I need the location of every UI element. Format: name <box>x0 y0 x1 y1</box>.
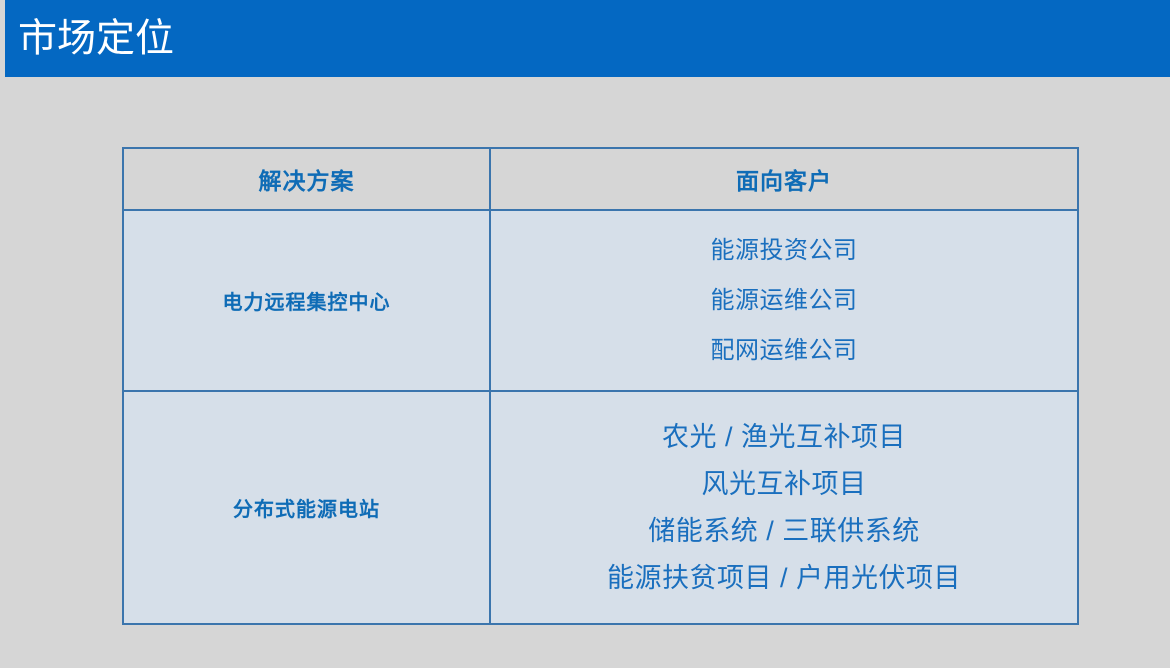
customer-list-remote-control-center: 能源投资公司 能源运维公司 配网运维公司 <box>490 210 1078 391</box>
customer-lines: 能源投资公司 能源运维公司 配网运维公司 <box>491 226 1077 376</box>
table-header-row: 解决方案 面向客户 <box>123 148 1078 210</box>
slide-canvas: 市场定位 解决方案 面向客户 电力远程集控中心 能源投资公司 <box>0 0 1170 668</box>
list-item: 农光 / 渔光互补项目 <box>662 414 906 461</box>
table-row: 分布式能源电站 农光 / 渔光互补项目 风光互补项目 储能系统 / 三联供系统 … <box>123 391 1078 624</box>
market-positioning-table-container: 解决方案 面向客户 电力远程集控中心 能源投资公司 能源运维公司 配网运维公司 <box>122 147 1077 621</box>
list-item: 能源扶贫项目 / 户用光伏项目 <box>607 555 961 602</box>
list-item: 能源投资公司 <box>711 226 858 276</box>
table-row: 电力远程集控中心 能源投资公司 能源运维公司 配网运维公司 <box>123 210 1078 391</box>
market-positioning-table: 解决方案 面向客户 电力远程集控中心 能源投资公司 能源运维公司 配网运维公司 <box>122 147 1079 625</box>
list-item: 风光互补项目 <box>702 461 867 508</box>
page-title: 市场定位 <box>18 19 174 58</box>
column-header-solution: 解决方案 <box>123 148 490 210</box>
list-item: 储能系统 / 三联供系统 <box>648 508 920 555</box>
list-item: 能源运维公司 <box>711 276 858 326</box>
slide-title-banner: 市场定位 <box>5 0 1170 77</box>
customer-lines: 农光 / 渔光互补项目 风光互补项目 储能系统 / 三联供系统 能源扶贫项目 /… <box>491 414 1077 602</box>
customer-list-distributed-energy-station: 农光 / 渔光互补项目 风光互补项目 储能系统 / 三联供系统 能源扶贫项目 /… <box>490 391 1078 624</box>
solution-name-remote-control-center: 电力远程集控中心 <box>123 210 490 391</box>
column-header-customer: 面向客户 <box>490 148 1078 210</box>
solution-name-distributed-energy-station: 分布式能源电站 <box>123 391 490 624</box>
list-item: 配网运维公司 <box>711 326 858 376</box>
